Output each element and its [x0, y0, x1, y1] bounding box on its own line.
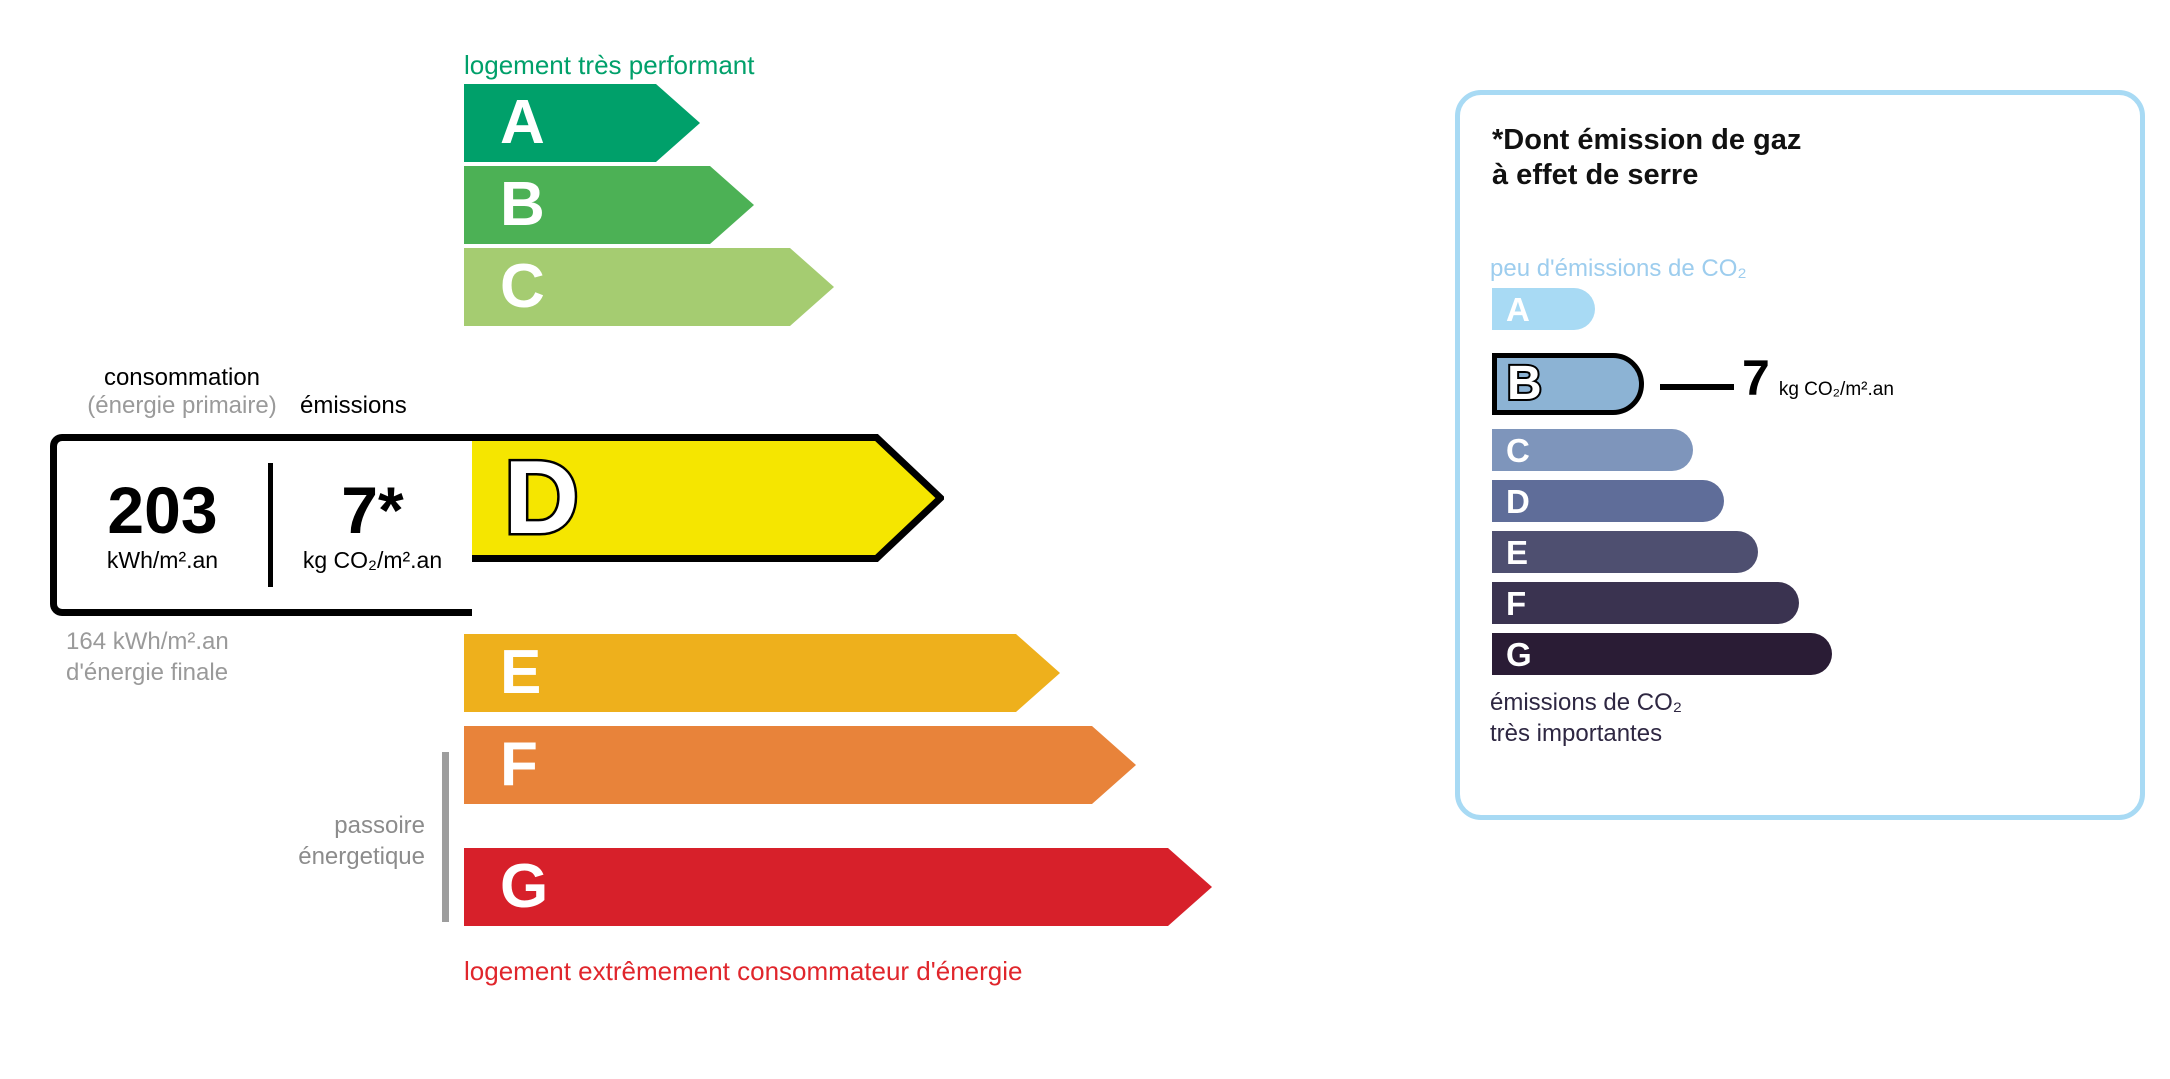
ghg-class-bar-a: A: [1492, 288, 1595, 330]
energy-class-letter-a: A: [500, 92, 545, 154]
energy-class-letter-f: F: [500, 734, 538, 796]
energy-class-bar-e: E: [464, 634, 1060, 712]
ghg-class-letter-b: B: [1507, 360, 1542, 408]
value-box: 203 kWh/m².an 7* kg CO₂/m².an: [50, 434, 472, 616]
ghg-class-letter-f: F: [1506, 587, 1526, 620]
ghg-emissions-panel: *Dont émission de gaz à effet de serre p…: [1455, 90, 2145, 820]
ghg-class-letter-c: C: [1506, 434, 1530, 467]
ghg-title-line-1: *Dont émission de gaz: [1492, 124, 1801, 156]
ghg-class-bar-c: C: [1492, 429, 1693, 471]
ghg-class-letter-g: G: [1506, 638, 1532, 671]
ghg-class-letter-e: E: [1506, 536, 1528, 569]
energy-class-letter-b: B: [500, 174, 545, 236]
ghg-class-bar-e: E: [1492, 531, 1758, 573]
scale-top-label: logement très performant: [464, 50, 754, 81]
ghg-bottom-label: émissions de CO₂ très importantes: [1490, 688, 1682, 749]
ghg-title-line-2: à effet de serre: [1492, 159, 1698, 191]
energy-performance-chart: logement très performant ABCDEFG passoir…: [0, 0, 1400, 1079]
ghg-class-letter-a: A: [1506, 293, 1530, 326]
ghg-class-letter-d: D: [1506, 485, 1530, 518]
emission-unit: kg CO₂/m².an: [303, 547, 442, 574]
ghg-class-bar-b: B: [1492, 353, 1644, 415]
energy-class-letter-c: C: [500, 256, 545, 318]
energy-class-bar-a: A: [464, 84, 700, 162]
energy-class-bar-b: B: [464, 166, 754, 244]
ghg-bottom-line-2: très importantes: [1490, 720, 1662, 747]
consumption-label-sub: (énergie primaire): [62, 392, 302, 420]
ghg-bottom-line-1: émissions de CO₂: [1490, 689, 1682, 716]
primary-energy-value: 203: [107, 476, 217, 545]
arrow-shape-g: [464, 848, 1212, 926]
ghg-panel-title: *Dont émission de gaz à effet de serre: [1492, 123, 1801, 194]
arrow-shape-f: [464, 726, 1136, 804]
emission-cell: 7* kg CO₂/m².an: [273, 441, 472, 609]
arrow-shape-e: [464, 634, 1060, 712]
passoire-line-2: énergetique: [298, 843, 425, 870]
consumption-label-main: consommation: [104, 364, 260, 391]
final-energy-note: 164 kWh/m².an d'énergie finale: [66, 626, 229, 688]
ghg-value-group: 7 kg CO₂/m².an: [1742, 353, 1894, 403]
final-energy-line-1: 164 kWh/m².an: [66, 628, 229, 655]
ghg-value: 7: [1742, 353, 1770, 403]
emissions-label: émissions: [300, 392, 407, 420]
ghg-class-bar-d: D: [1492, 480, 1724, 522]
ghg-class-bar-g: G: [1492, 633, 1832, 675]
primary-energy-unit: kWh/m².an: [107, 547, 218, 574]
final-energy-line-2: d'énergie finale: [66, 659, 228, 686]
ghg-connector-line: [1660, 384, 1734, 390]
primary-energy-cell: 203 kWh/m².an: [57, 441, 268, 609]
energy-class-bar-f: F: [464, 726, 1136, 804]
ghg-unit: kg CO₂/m².an: [1779, 379, 1894, 401]
passoire-line-1: passoire: [334, 812, 425, 839]
scale-bottom-label: logement extrêmement consommateur d'éner…: [464, 956, 1022, 987]
passoire-label: passoire énergetique: [200, 810, 425, 872]
consumption-label: consommation (énergie primaire): [62, 364, 302, 419]
ghg-top-label: peu d'émissions de CO₂: [1490, 255, 1747, 283]
energy-class-bar-d: D: [464, 434, 944, 562]
energy-class-letter-e: E: [500, 642, 541, 704]
energy-class-letter-d: D: [504, 446, 579, 550]
passoire-indicator-bar: [442, 752, 449, 922]
energy-class-letter-g: G: [500, 856, 548, 918]
emission-value: 7*: [341, 476, 403, 545]
energy-class-bar-g: G: [464, 848, 1212, 926]
ghg-class-bar-f: F: [1492, 582, 1799, 624]
energy-class-bar-c: C: [464, 248, 834, 326]
